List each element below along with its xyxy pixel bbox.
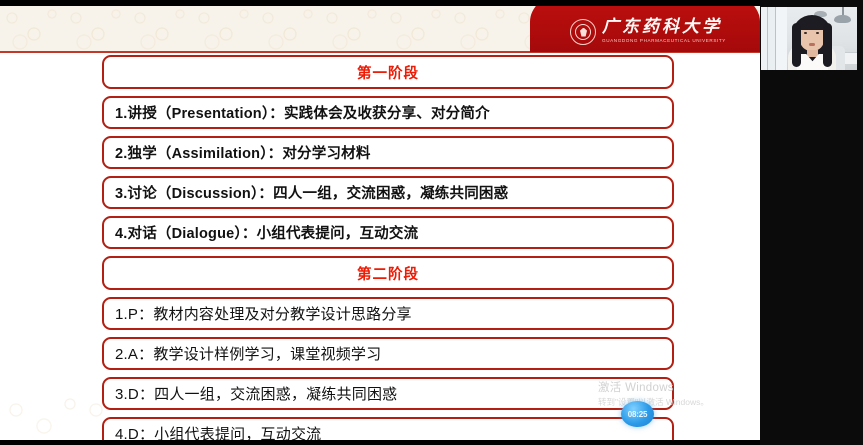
webcam-person-mouth	[809, 43, 815, 46]
time-badge: 08:25	[621, 401, 654, 427]
list-item-label: 2.独学（Assimilation）：对分学习材料	[115, 142, 371, 163]
webcam-person-eye-left	[804, 32, 807, 34]
stage-header-row: 第一阶段	[102, 55, 674, 89]
list-item: 2.A：教学设计样例学习，课堂视频学习	[102, 337, 674, 370]
webcam-panel	[760, 0, 863, 445]
webcam-person-eye-right	[816, 32, 819, 34]
brand-inner: 广东药科大学 GUANGDONG PHARMACEUTICAL UNIVERSI…	[530, 10, 760, 53]
list-item-label: 4.D：小组代表提问，互动交流	[115, 423, 321, 440]
list-item-label: 3.D：四人一组，交流困惑，凝练共同困惑	[115, 383, 397, 404]
webcam-office-window	[761, 7, 787, 70]
list-item: 4.D：小组代表提问，互动交流	[102, 417, 674, 440]
time-badge-value: 08:25	[628, 410, 647, 419]
list-item-label: 1.P：教材内容处理及对分教学设计思路分享	[115, 303, 412, 324]
stage-label: 第二阶段	[357, 263, 419, 284]
screen-root: 广东药科大学 GUANGDONG PHARMACEUTICAL UNIVERSI…	[0, 0, 863, 445]
university-brand-ribbon: 广东药科大学 GUANGDONG PHARMACEUTICAL UNIVERSI…	[530, 6, 760, 53]
webcam-person-hair-left	[792, 23, 801, 67]
university-seal-icon	[570, 19, 596, 45]
list-item: 1.讲授（Presentation）：实践体会及收获分享、对分简介	[102, 96, 674, 129]
list-item: 2.独学（Assimilation）：对分学习材料	[102, 136, 674, 169]
webcam-person-hair-top	[798, 17, 826, 30]
presentation-slide: 广东药科大学 GUANGDONG PHARMACEUTICAL UNIVERSI…	[0, 6, 760, 440]
slide-content-list: 第一阶段 1.讲授（Presentation）：实践体会及收获分享、对分简介 2…	[102, 55, 674, 440]
stage-header-row: 第二阶段	[102, 256, 674, 290]
list-item-label: 1.讲授（Presentation）：实践体会及收获分享、对分简介	[115, 102, 490, 123]
list-item-label: 4.对话（Dialogue）：小组代表提问，互动交流	[115, 222, 418, 243]
brand-text: 广东药科大学 GUANGDONG PHARMACEUTICAL UNIVERSI…	[602, 19, 726, 44]
seal-inner-ring	[575, 24, 591, 40]
webcam-person-neck	[807, 50, 818, 57]
list-item: 3.讨论（Discussion）：四人一组，交流困惑，凝练共同困惑	[102, 176, 674, 209]
webcam-person-hair-right	[823, 23, 832, 67]
stage-label: 第一阶段	[357, 62, 419, 83]
list-item: 1.P：教材内容处理及对分教学设计思路分享	[102, 297, 674, 330]
list-item-label: 2.A：教学设计样例学习，课堂视频学习	[115, 343, 381, 364]
list-item-label: 3.讨论（Discussion）：四人一组，交流困惑，凝练共同困惑	[115, 182, 508, 203]
list-item: 3.D：四人一组，交流困惑，凝练共同困惑	[102, 377, 674, 410]
list-item: 4.对话（Dialogue）：小组代表提问，互动交流	[102, 216, 674, 249]
presenter-webcam-feed[interactable]	[761, 7, 857, 70]
webcam-pendant-lamp	[834, 15, 851, 23]
brand-name-en: GUANGDONG PHARMACEUTICAL UNIVERSITY	[602, 39, 726, 44]
brand-name-cn: 广东药科大学	[602, 19, 726, 36]
